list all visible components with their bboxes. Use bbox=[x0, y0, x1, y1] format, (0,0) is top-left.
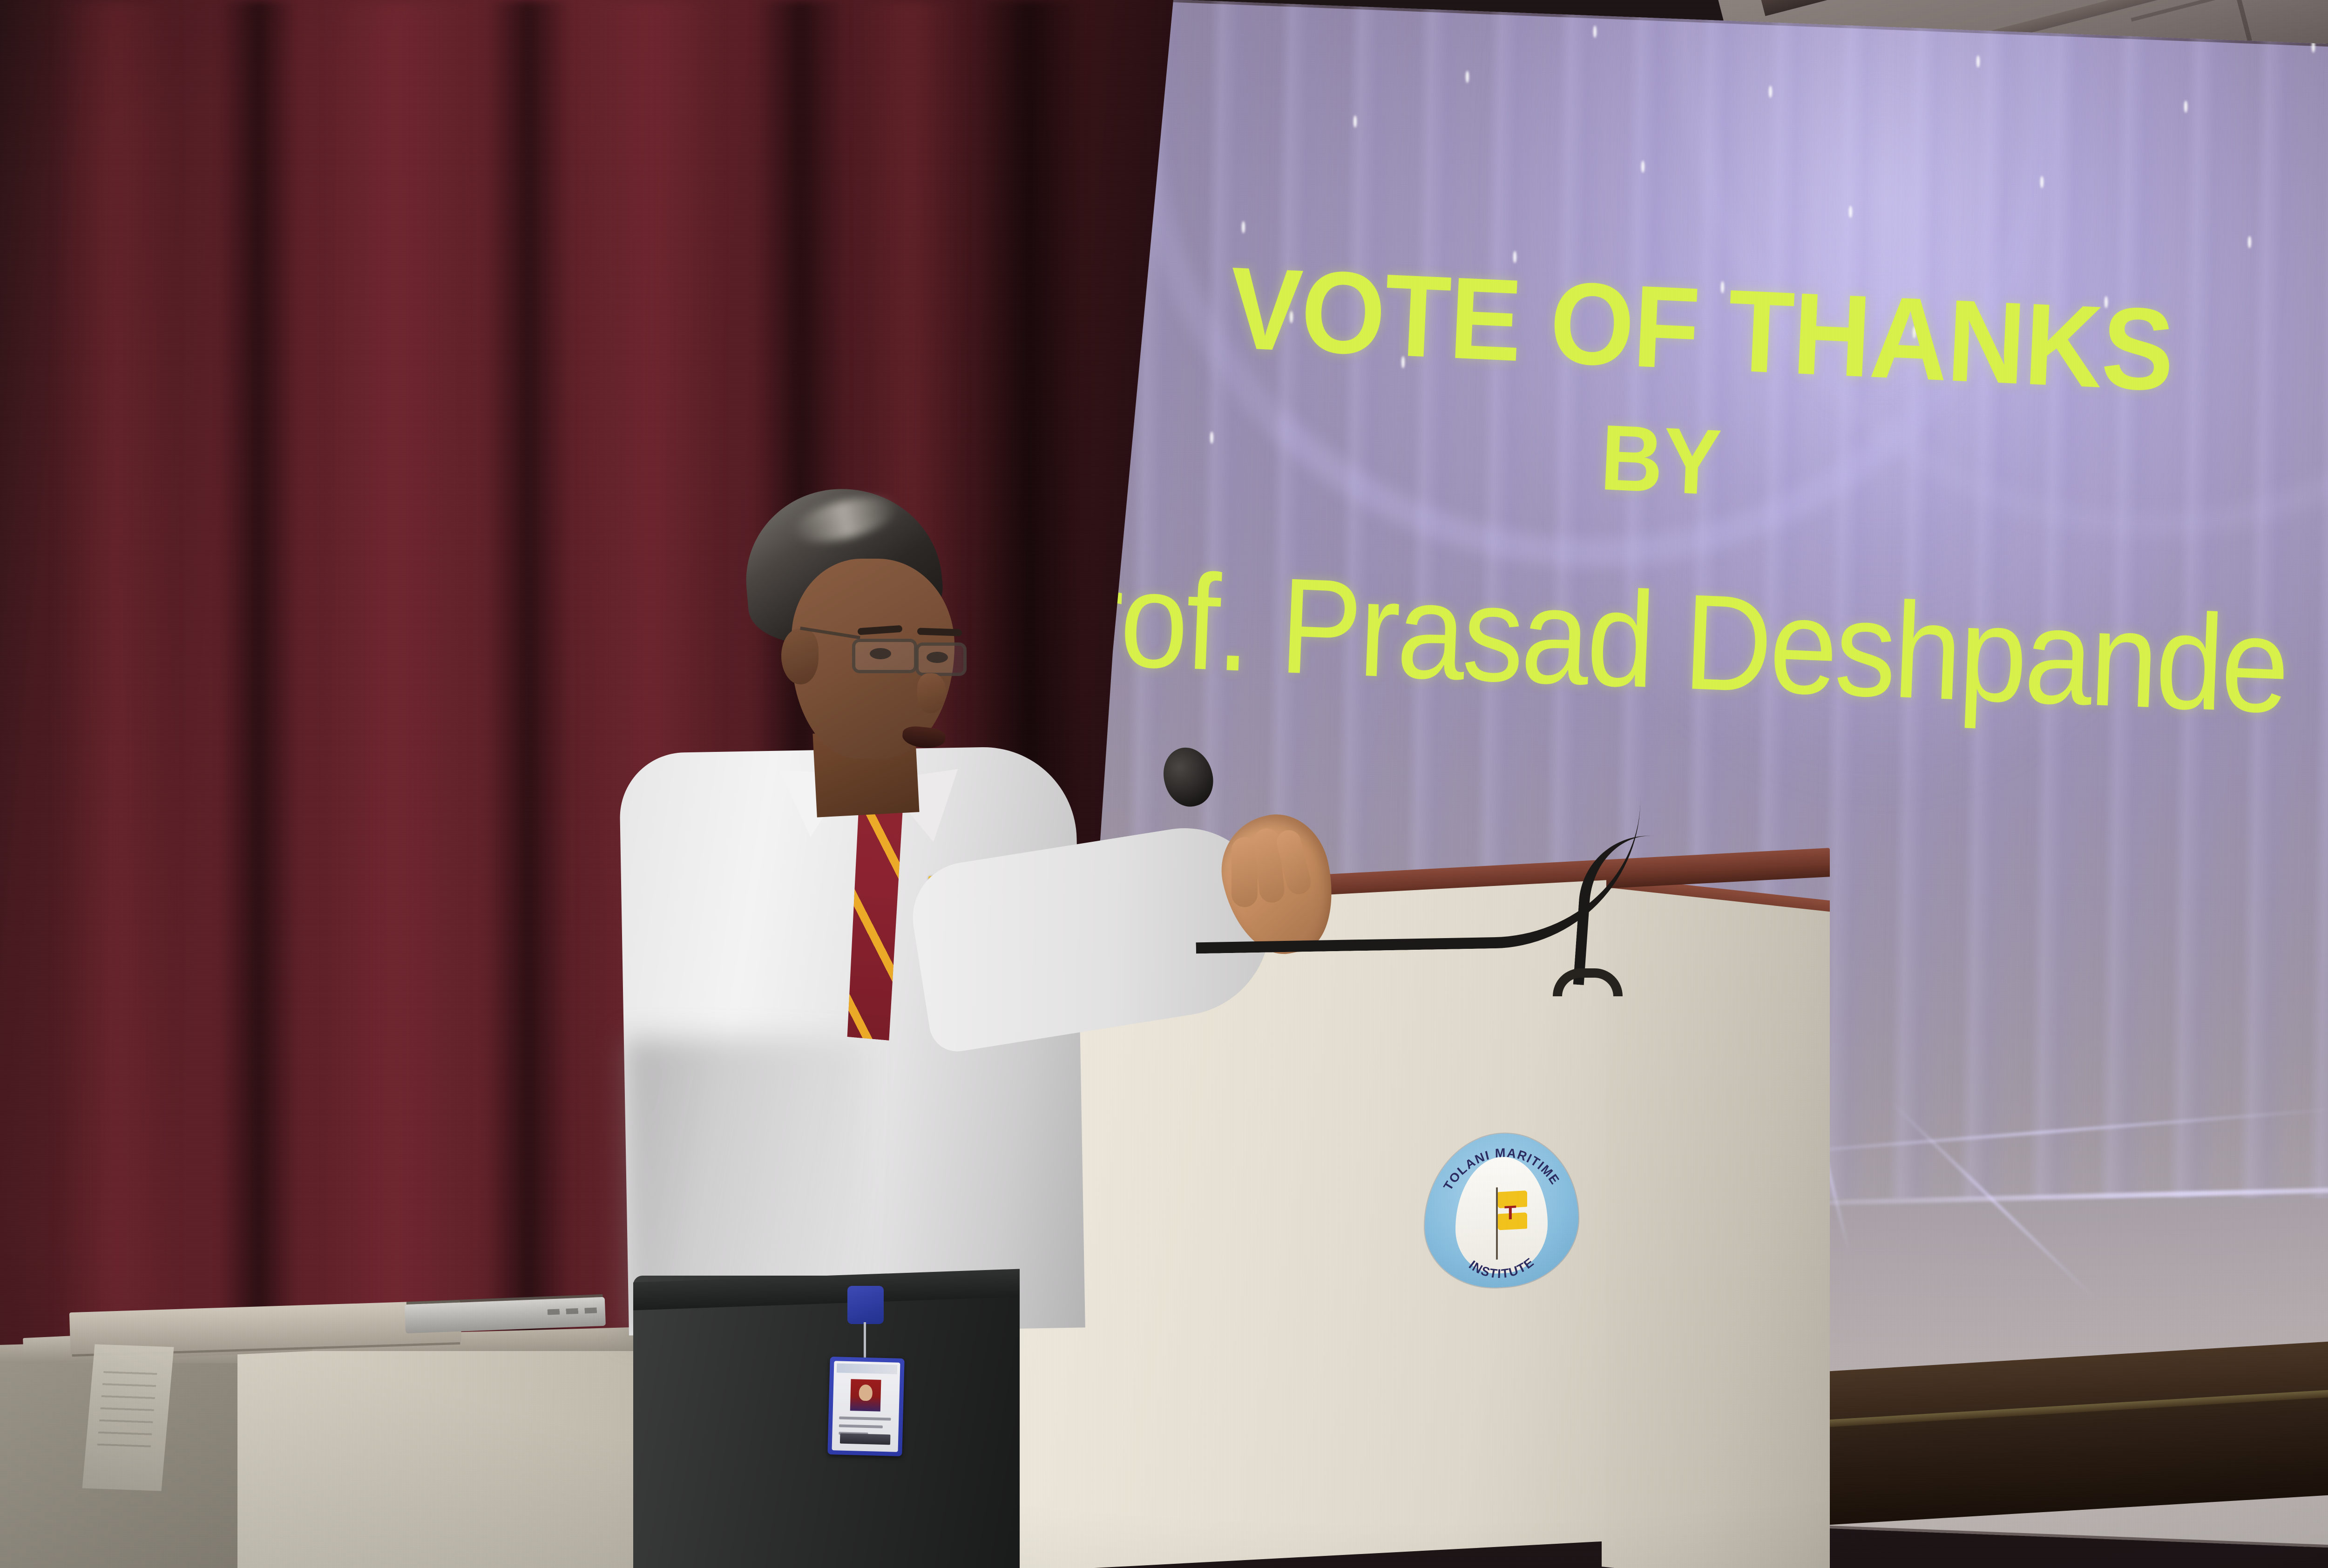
id-badge-name-line bbox=[839, 1417, 891, 1421]
laptop-ports bbox=[548, 1307, 599, 1315]
id-badge-photo bbox=[850, 1379, 881, 1412]
id-badge-card bbox=[832, 1361, 900, 1452]
hanging-paper-sheet bbox=[82, 1344, 174, 1491]
trousers bbox=[633, 1276, 1020, 1568]
slide-connector: BY bbox=[1599, 415, 1723, 506]
id-badge-header bbox=[837, 1363, 897, 1374]
logo-arc-text: TOLANI MARITIME INSTITUTE bbox=[1425, 1129, 1578, 1291]
logo-arc-top-text: TOLANI MARITIME bbox=[1441, 1142, 1562, 1193]
id-badge-footer-bar bbox=[840, 1433, 890, 1445]
side-table-front-panel bbox=[237, 1351, 647, 1568]
speaker bbox=[675, 489, 1327, 1568]
side-table bbox=[0, 1327, 647, 1568]
id-badge-photo-face bbox=[859, 1385, 873, 1401]
logo-arc-bottom-text: INSTITUTE bbox=[1466, 1254, 1537, 1283]
badge-reel bbox=[847, 1286, 884, 1324]
badge-cord bbox=[864, 1322, 866, 1359]
eyeglasses-lens-left bbox=[852, 639, 917, 673]
eyeglasses-lens-right bbox=[915, 642, 967, 676]
paper-text-lines bbox=[97, 1365, 158, 1447]
svg-text:INSTITUTE: INSTITUTE bbox=[1466, 1254, 1537, 1283]
id-badge bbox=[827, 1357, 904, 1456]
id-badge-role-line bbox=[839, 1425, 883, 1428]
finger-index bbox=[1232, 837, 1258, 907]
auditorium-photograph: VOTE OF THANKS BY Prof. Prasad Deshpande bbox=[0, 0, 2328, 1568]
lectern-right-panel bbox=[1602, 887, 1830, 1568]
svg-text:TOLANI MARITIME: TOLANI MARITIME bbox=[1441, 1142, 1562, 1193]
tolani-maritime-institute-logo: T TOLANI MARITIME INSTITUTE bbox=[1425, 1129, 1578, 1291]
ear bbox=[781, 629, 819, 684]
slide-title: VOTE OF THANKS bbox=[1227, 254, 2175, 404]
